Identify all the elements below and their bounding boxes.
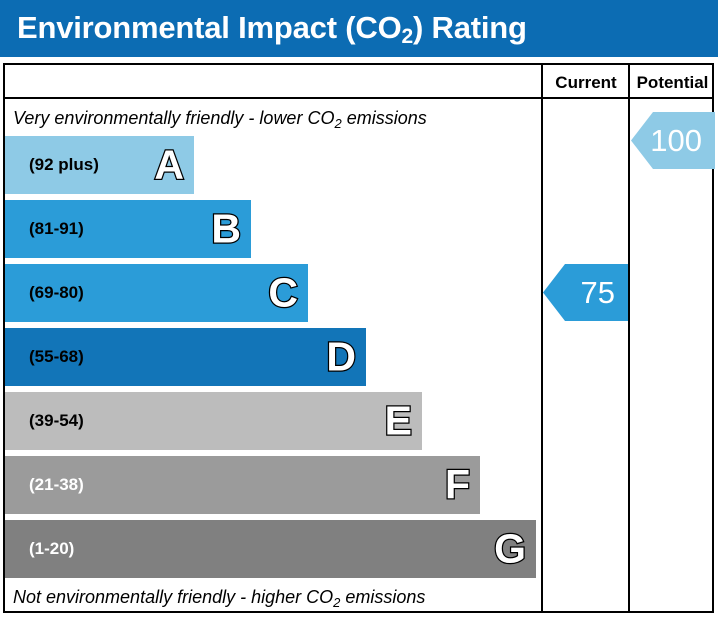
- band-letter-e: E: [385, 401, 412, 442]
- rating-band-a: (92 plus) A: [5, 136, 194, 194]
- band-letter-g: G: [494, 529, 526, 570]
- band-range-b: (81-91): [29, 219, 84, 239]
- epc-environmental-impact-chart: Environmental Impact (CO2) Rating Curren…: [0, 0, 718, 619]
- column-header-potential: Potential: [630, 72, 715, 94]
- current-column-divider: [541, 63, 543, 613]
- band-range-c: (69-80): [29, 283, 84, 303]
- band-letter-c: C: [268, 273, 298, 314]
- rating-band-c: (69-80) C: [5, 264, 308, 322]
- band-letter-b: B: [211, 209, 241, 250]
- potential-rating-value: 100: [650, 125, 715, 156]
- page-title: Environmental Impact (CO2) Rating: [17, 7, 527, 53]
- column-header-current: Current: [543, 72, 629, 94]
- potential-column-divider: [628, 63, 630, 613]
- rating-band-b: (81-91) B: [5, 200, 251, 258]
- rating-band-g: (1-20) G: [5, 520, 536, 578]
- band-range-d: (55-68): [29, 347, 84, 367]
- band-range-a: (92 plus): [29, 155, 99, 175]
- band-range-g: (1-20): [29, 539, 74, 559]
- caption-bottom-subscript: 2: [333, 595, 340, 610]
- title-bar: Environmental Impact (CO2) Rating: [0, 0, 718, 57]
- rating-band-f: (21-38) F: [5, 456, 480, 514]
- rating-band-e: (39-54) E: [5, 392, 422, 450]
- title-subscript: 2: [402, 25, 413, 48]
- band-letter-a: A: [154, 145, 184, 186]
- band-range-e: (39-54): [29, 411, 84, 431]
- caption-bottom: Not environmentally friendly - higher CO…: [13, 587, 425, 609]
- current-rating-value: 75: [581, 277, 628, 308]
- band-letter-f: F: [445, 465, 470, 506]
- caption-top-subscript: 2: [334, 116, 341, 131]
- band-range-f: (21-38): [29, 475, 84, 495]
- rating-band-d: (55-68) D: [5, 328, 366, 386]
- caption-top: Very environmentally friendly - lower CO…: [13, 108, 427, 130]
- band-letter-d: D: [326, 337, 356, 378]
- header-divider: [3, 97, 714, 99]
